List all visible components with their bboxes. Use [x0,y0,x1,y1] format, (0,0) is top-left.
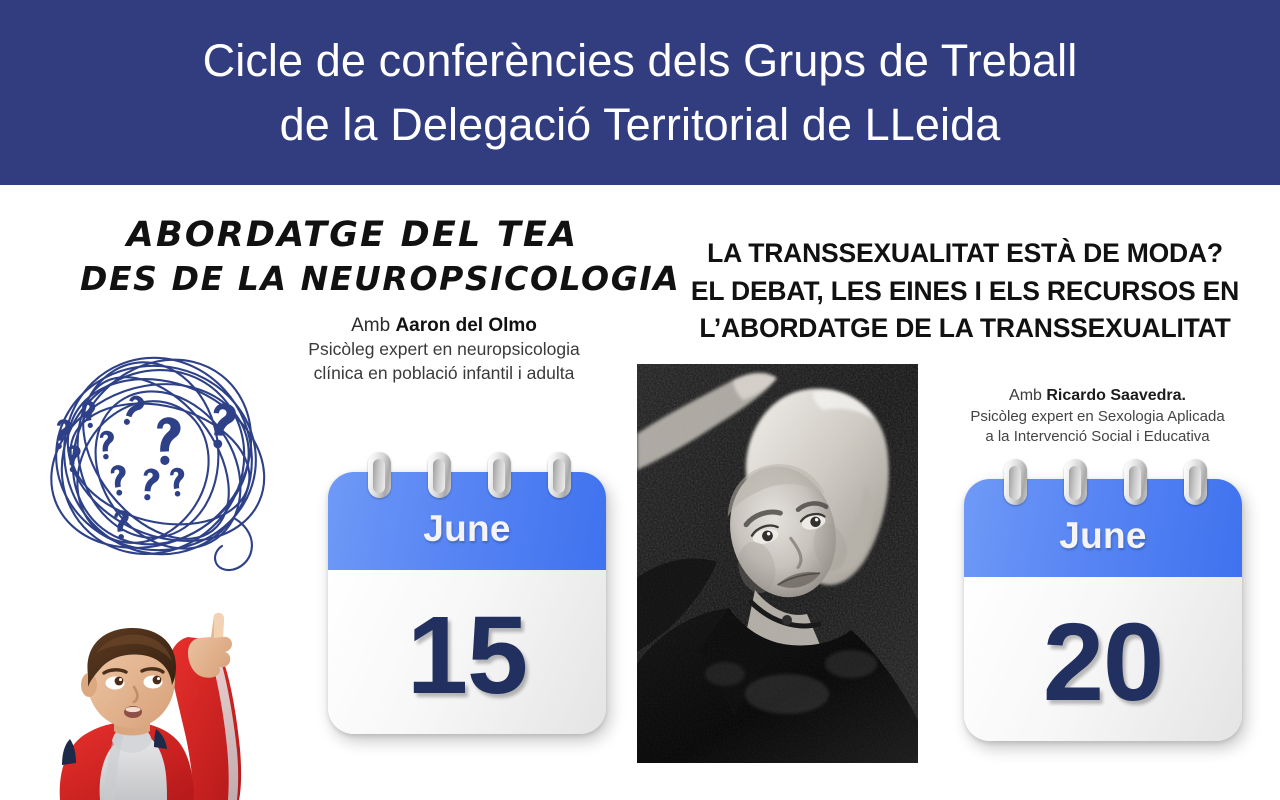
header-title-line-2: de la Delegació Territorial de LLeida [280,93,1001,157]
left-poster-speaker-block: Amb Aaron del Olmo Psicòleg expert en ne… [268,313,620,385]
left-poster-title-line-1: ABORDATGE DEL TEA [80,213,625,258]
calendar-body: June 20 [964,479,1242,741]
tangled-scribble-icon [38,340,288,590]
boy-pointing-photo [8,595,298,800]
left-poster-speaker-role-line-1: Psicòleg expert en neuropsicologia [268,338,620,361]
calendar-header: June [964,479,1242,577]
calendar-day-number: 20 [1043,608,1163,718]
right-poster-title-line-3: L’ABORDATGE DE LA TRANSSEXUALITAT [665,310,1265,348]
calendar-body: June 15 [328,472,606,734]
calendar-face: 15 [328,570,606,734]
poster-area: ABORDATGE DEL TEA DES DE LA NEUROPSICOLO… [0,185,1280,800]
left-poster-speaker-prefix: Amb [351,315,395,336]
calendar-icon-june-15: June 15 [322,450,612,740]
right-poster-speaker-name: Ricardo Saavedra. [1046,387,1186,404]
right-poster-title: LA TRANSSEXUALITAT ESTÀ DE MODA? EL DEBA… [665,235,1265,348]
calendar-icon-june-20: June 20 [958,457,1248,747]
right-poster-speaker-role-line-2: a la Intervenció Social i Educativa [930,427,1265,447]
calendar-month-label: June [1059,515,1147,557]
right-poster-speaker-prefix: Amb [1009,387,1046,404]
left-poster-speaker-name-row: Amb Aaron del Olmo [268,313,620,338]
header-banner: Cicle de conferències dels Grups de Treb… [0,0,1280,185]
calendar-face: 20 [964,577,1242,741]
calendar-day-number: 15 [407,601,527,711]
right-poster-speaker-block: Amb Ricardo Saavedra. Psicòleg expert en… [930,385,1265,448]
calendar-header: June [328,472,606,570]
right-poster-speaker-role-line-1: Psicòleg expert en Sexologia Aplicada [930,407,1265,427]
header-title-line-1: Cicle de conferències dels Grups de Treb… [203,29,1078,93]
calendar-month-label: June [423,508,511,550]
right-poster-title-line-2: EL DEBAT, LES EINES I ELS RECURSOS EN [665,273,1265,311]
left-poster-title: ABORDATGE DEL TEA DES DE LA NEUROPSICOLO… [80,213,625,300]
left-poster-speaker-name: Aaron del Olmo [395,315,536,336]
right-poster-speaker-name-row: Amb Ricardo Saavedra. [930,385,1265,407]
left-poster-speaker-role-line-2: clínica en població infantil i adulta [268,362,620,385]
portrait-photo [637,364,918,763]
left-poster-title-line-2: DES DE LA NEUROPSICOLOGIA [80,258,625,300]
right-poster-title-line-1: LA TRANSSEXUALITAT ESTÀ DE MODA? [665,235,1265,273]
